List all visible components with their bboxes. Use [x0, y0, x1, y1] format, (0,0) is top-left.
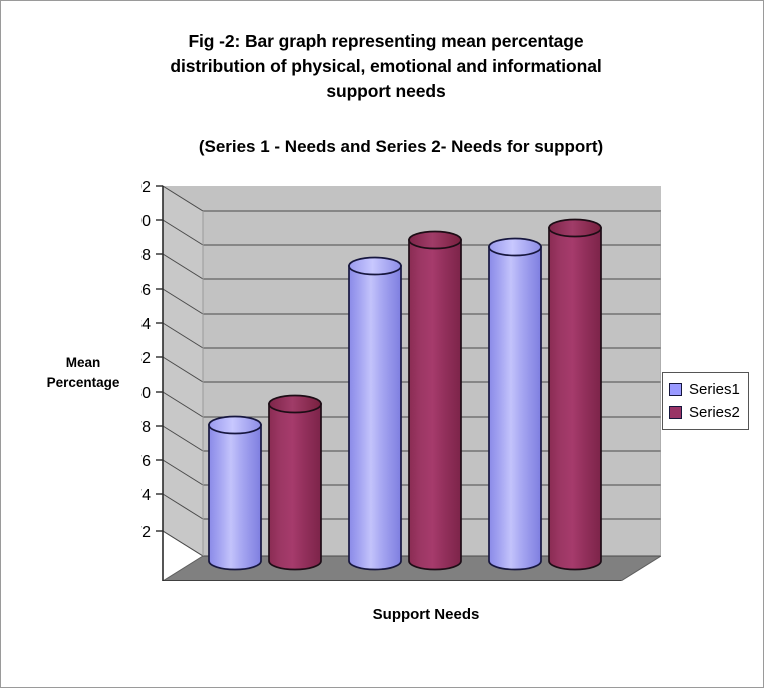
y-tick-label: 76	[141, 453, 151, 470]
chart-page: Fig -2: Bar graph representing mean perc…	[0, 0, 764, 688]
y-tick-label: 80	[141, 385, 151, 402]
y-tick-label: 92	[141, 179, 151, 196]
figure-title: Fig -2: Bar graph representing mean perc…	[61, 29, 711, 104]
y-tick-label: 86	[141, 282, 151, 299]
bar-informational-series1[interactable]	[489, 239, 541, 570]
y-axis-title: Mean Percentage	[23, 353, 143, 392]
y-axis-title-line-1: Mean	[23, 353, 143, 373]
x-axis-title: Support Needs	[206, 606, 646, 623]
legend-label-series2: Series2	[689, 404, 740, 421]
legend-item-series1[interactable]: Series1	[669, 378, 740, 401]
legend-swatch-series2-icon	[669, 406, 682, 419]
legend-swatch-series1-icon	[669, 383, 682, 396]
legend-item-series2[interactable]: Series2	[669, 401, 740, 424]
y-axis-tick-labels: 92 90 88 86 84 82 80 78 76 74 72	[141, 179, 151, 541]
y-axis-ticks	[156, 186, 163, 531]
y-tick-label: 74	[141, 487, 151, 504]
y-tick-label: 78	[141, 419, 151, 436]
figure-title-line-2: distribution of physical, emotional and …	[61, 54, 711, 79]
bar-physical-series1[interactable]	[209, 417, 261, 570]
bar-informational-series2[interactable]	[549, 220, 601, 570]
chart-canvas: 92 90 88 86 84 82 80 78 76 74 72	[141, 171, 661, 581]
bar-chart-3d: 92 90 88 86 84 82 80 78 76 74 72	[141, 171, 661, 581]
y-tick-label: 84	[141, 316, 151, 333]
bar-emotional-series1[interactable]	[349, 258, 401, 570]
chart-legend: Series1 Series2	[662, 372, 749, 430]
figure-subtitle: (Series 1 - Needs and Series 2- Needs fo…	[61, 137, 741, 157]
y-axis-title-line-2: Percentage	[23, 373, 143, 393]
y-tick-label: 72	[141, 524, 151, 541]
plot-top-strip	[163, 186, 661, 211]
y-tick-label: 82	[141, 350, 151, 367]
y-tick-label: 90	[141, 213, 151, 230]
bar-emotional-series2[interactable]	[409, 232, 461, 570]
legend-label-series1: Series1	[689, 381, 740, 398]
figure-title-line-3: support needs	[61, 79, 711, 104]
y-tick-label: 88	[141, 247, 151, 264]
figure-title-line-1: Fig -2: Bar graph representing mean perc…	[61, 29, 711, 54]
bar-physical-series2[interactable]	[269, 396, 321, 570]
